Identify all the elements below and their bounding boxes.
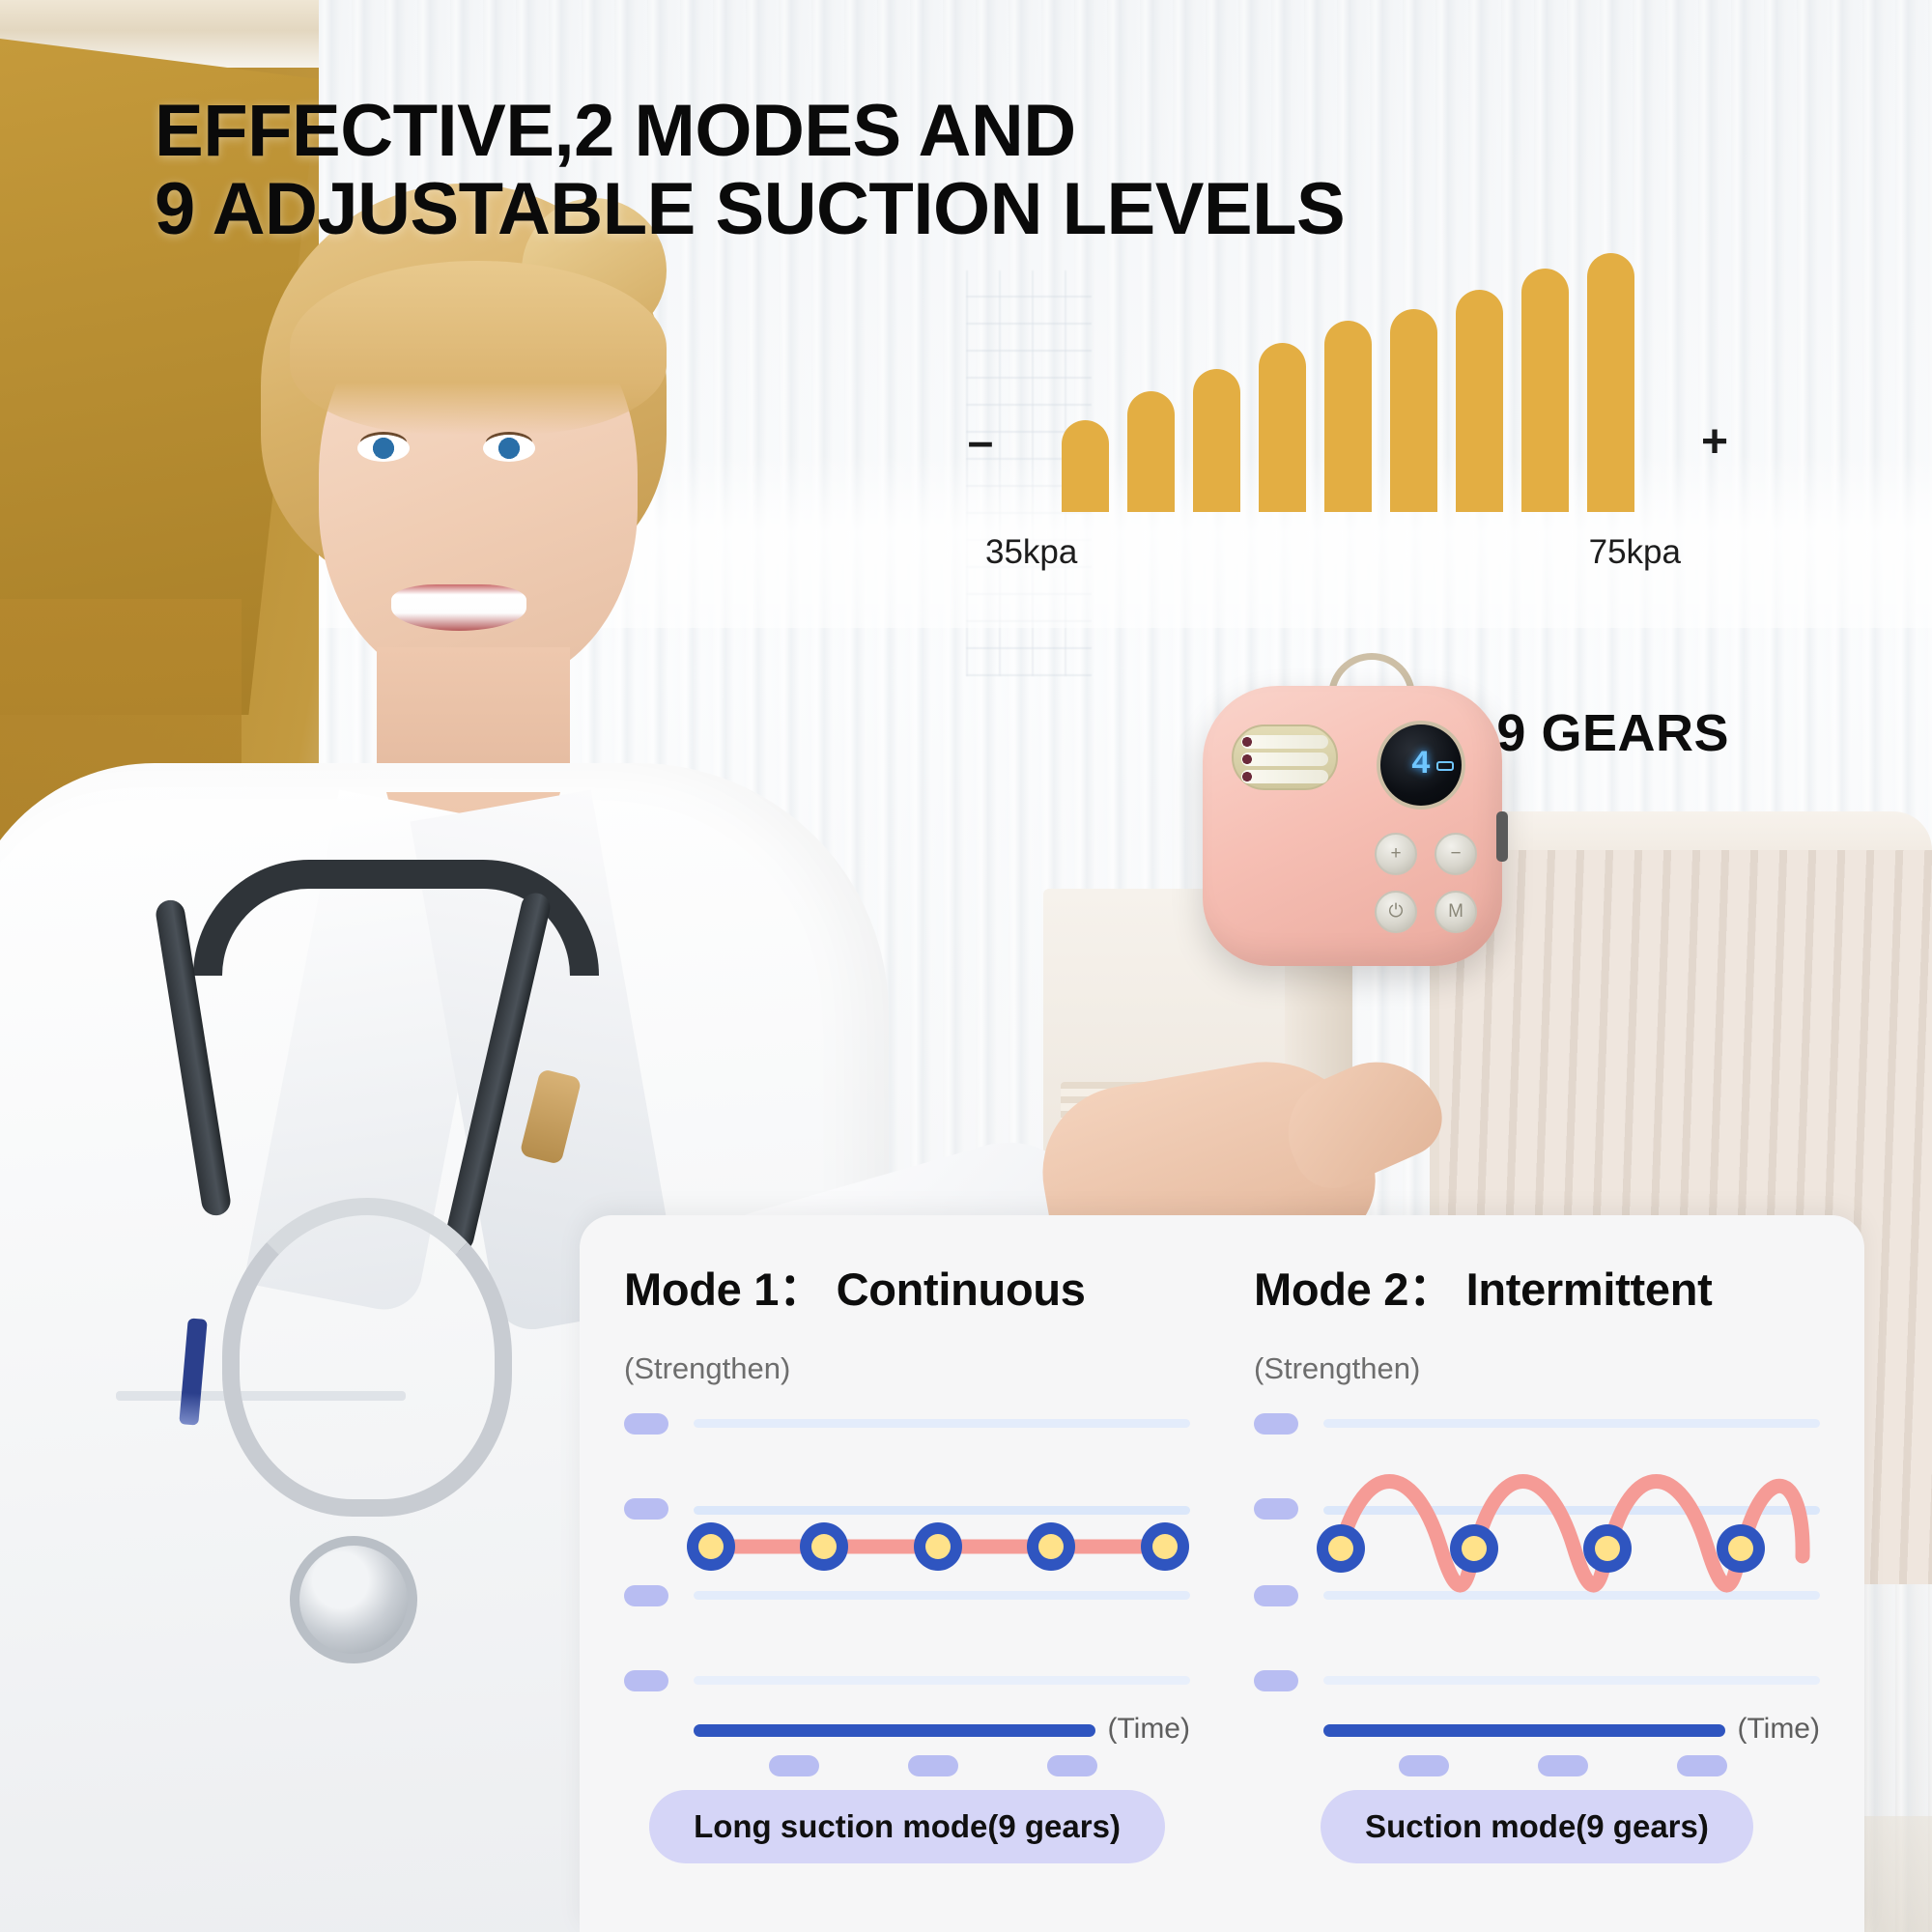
suction-bar-3[interactable] [1193, 369, 1240, 512]
mode-2-title: Mode 2： Intermittent [1254, 1252, 1820, 1319]
mode-column-2: Mode 2： Intermittent (Strengthen) [1254, 1252, 1820, 1863]
mode-2-time-label: (Time) [1737, 1713, 1820, 1746]
suction-bars-row: – + [956, 261, 1739, 512]
suction-level-chart: – + 35kpa 75kpa 9 GEARS [956, 338, 1739, 647]
time-axis-line [694, 1724, 1095, 1737]
mode-1-pill[interactable]: Long suction mode(9 gears) [649, 1790, 1165, 1863]
vent-row [1241, 770, 1328, 783]
x-tick [1677, 1755, 1727, 1776]
suction-bar-7[interactable] [1456, 290, 1503, 512]
kpa-min-label: 35kpa [985, 533, 1077, 572]
x-ticks [1399, 1755, 1727, 1776]
device-body: 4 + − ⏻ M [1203, 686, 1502, 966]
smile [391, 584, 526, 631]
kpa-max-label: 75kpa [1589, 533, 1681, 572]
breast-pump-device: 4 + − ⏻ M [1203, 676, 1521, 995]
modes-grid: Mode 1： Continuous (Strengthen) [624, 1252, 1820, 1863]
mode-1-chart [624, 1402, 1190, 1701]
mode-1-time-label: (Time) [1107, 1713, 1190, 1746]
x-tick [1399, 1755, 1449, 1776]
device-side-button[interactable] [1496, 811, 1508, 862]
mode-1-pill-wrap: Long suction mode(9 gears) [624, 1780, 1190, 1863]
right-eye [483, 435, 535, 462]
vent-row [1241, 753, 1328, 766]
x-ticks [769, 1755, 1097, 1776]
suction-bar-9[interactable] [1587, 253, 1634, 512]
suction-bar-4[interactable] [1259, 343, 1306, 512]
display-level-value: 4 [1411, 747, 1431, 783]
x-tick [1538, 1755, 1588, 1776]
suction-bar-1[interactable] [1062, 420, 1109, 512]
decrease-sign: – [956, 419, 1005, 466]
mode-2-chart [1254, 1402, 1820, 1701]
y-tick [1254, 1585, 1298, 1606]
mode-2-strengthen-label: (Strengthen) [1254, 1351, 1820, 1386]
mode-1-strengthen-label: (Strengthen) [624, 1351, 1190, 1386]
mode-2-time-axis: (Time) [1254, 1709, 1820, 1780]
gears-label: 9 GEARS [1496, 703, 1729, 763]
y-tick [624, 1585, 668, 1606]
vent-row [1241, 735, 1328, 749]
x-tick [769, 1755, 819, 1776]
y-tick [624, 1413, 668, 1435]
suction-bars [1005, 261, 1690, 512]
mode-1-time-axis: (Time) [624, 1709, 1190, 1780]
x-tick [908, 1755, 958, 1776]
suction-bar-8[interactable] [1521, 269, 1569, 512]
decrease-button[interactable]: − [1435, 833, 1477, 875]
headline-line-2: 9 ADJUSTABLE SUCTION LEVELS [155, 170, 1719, 248]
battery-icon [1436, 761, 1454, 771]
suction-bar-5[interactable] [1324, 321, 1372, 512]
y-tick [1254, 1413, 1298, 1435]
y-tick [624, 1498, 668, 1520]
time-axis-line [1323, 1724, 1725, 1737]
device-vent-panel [1232, 724, 1338, 790]
product-feature-page: EFFECTIVE,2 MODES AND 9 ADJUSTABLE SUCTI… [0, 0, 1932, 1932]
mode-button[interactable]: M [1435, 891, 1477, 933]
stethoscope-chestpiece [290, 1536, 417, 1663]
left-eye [357, 435, 410, 462]
power-button[interactable]: ⏻ [1375, 891, 1417, 933]
mode-1-title: Mode 1： Continuous [624, 1252, 1190, 1319]
device-led-display: 4 [1377, 721, 1465, 810]
increase-sign: + [1690, 419, 1739, 466]
y-tick [1254, 1670, 1298, 1691]
mode-2-waveform [1312, 1402, 1833, 1691]
increase-button[interactable]: + [1375, 833, 1417, 875]
page-headline: EFFECTIVE,2 MODES AND 9 ADJUSTABLE SUCTI… [155, 92, 1719, 249]
mode-column-1: Mode 1： Continuous (Strengthen) [624, 1252, 1190, 1863]
suction-bar-6[interactable] [1390, 309, 1437, 512]
x-tick [1047, 1755, 1097, 1776]
modes-panel: Mode 1： Continuous (Strengthen) [580, 1215, 1864, 1932]
mode-2-pill-wrap: Suction mode(9 gears) [1254, 1780, 1820, 1863]
stethoscope-lower-loop [222, 1198, 512, 1517]
hair-fringe [290, 261, 667, 435]
headline-line-1: EFFECTIVE,2 MODES AND [155, 90, 1076, 172]
y-tick [1254, 1498, 1298, 1520]
suction-bar-2[interactable] [1127, 391, 1175, 512]
mode-1-waveform [682, 1402, 1204, 1691]
mode-2-pill[interactable]: Suction mode(9 gears) [1321, 1790, 1753, 1863]
y-tick [624, 1670, 668, 1691]
kpa-labels: 35kpa 75kpa [956, 533, 1739, 572]
